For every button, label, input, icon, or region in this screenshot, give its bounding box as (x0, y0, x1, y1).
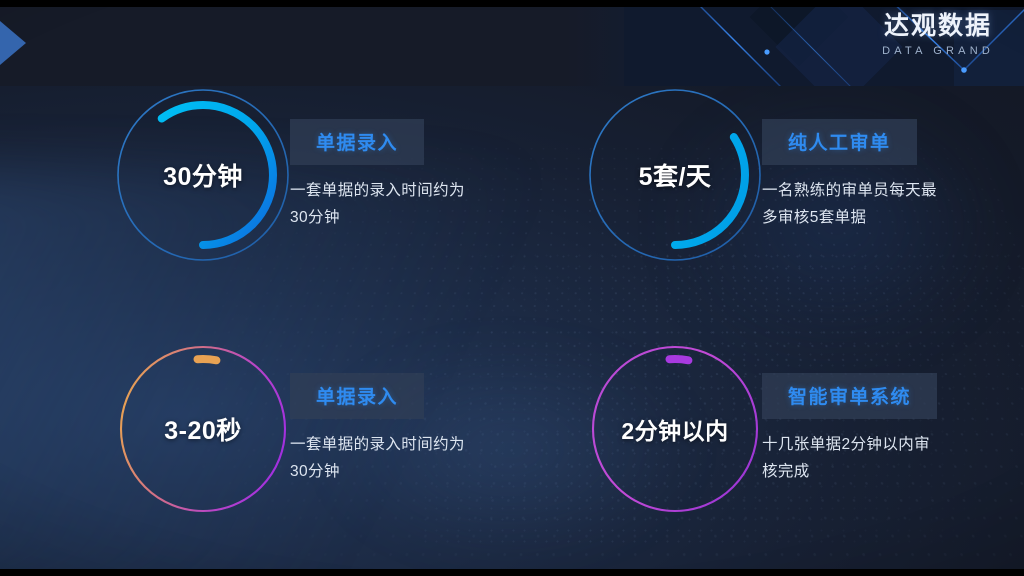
metric-card-auto-review-time: 2分钟以内 智能审单系统 十几张单据2分钟以内审核完成 (582, 336, 944, 522)
card-description: 一名熟练的审单员每天最多审核5套单据 (762, 178, 944, 230)
card-chip-label: 单据录入 (290, 119, 424, 165)
donut-chart-auto-review-time: 2分钟以内 (582, 336, 768, 522)
brand-name-cn: 达观数据 (882, 14, 994, 39)
metric-card-auto-entry-time: 3-20秒 单据录入 一套单据的录入时间约为30分钟 (110, 336, 480, 522)
metric-card-manual-review-rate: 5套/天 纯人工审单 一名熟练的审单员每天最多审核5套单据 (582, 82, 944, 268)
card-info: 单据录入 一套单据的录入时间约为30分钟 (290, 119, 480, 230)
card-info: 纯人工审单 一名熟练的审单员每天最多审核5套单据 (762, 119, 944, 230)
letterbox-top (0, 0, 1024, 7)
metric-card-grid: 30分钟 单据录入 一套单据的录入时间约为30分钟 (0, 0, 1024, 576)
card-info: 智能审单系统 十几张单据2分钟以内审核完成 (762, 373, 944, 484)
card-description: 一套单据的录入时间约为30分钟 (290, 432, 480, 484)
brand-logo: 达观数据 DATA GRAND (882, 14, 994, 57)
card-chip-label: 智能审单系统 (762, 373, 937, 419)
slide-canvas: 达观数据 DATA GRAND (0, 0, 1024, 576)
card-chip-label: 单据录入 (290, 373, 424, 419)
card-description: 一套单据的录入时间约为30分钟 (290, 178, 480, 230)
donut-chart-auto-entry-time: 3-20秒 (110, 336, 296, 522)
letterbox-bottom (0, 569, 1024, 576)
card-description: 十几张单据2分钟以内审核完成 (762, 432, 944, 484)
donut-chart-manual-review-rate: 5套/天 (582, 82, 768, 268)
donut-chart-manual-entry-time: 30分钟 (110, 82, 296, 268)
metric-card-manual-entry-time: 30分钟 单据录入 一套单据的录入时间约为30分钟 (110, 82, 480, 268)
card-chip-label: 纯人工审单 (762, 119, 917, 165)
brand-name-en: DATA GRAND (882, 46, 994, 57)
card-info: 单据录入 一套单据的录入时间约为30分钟 (290, 373, 480, 484)
